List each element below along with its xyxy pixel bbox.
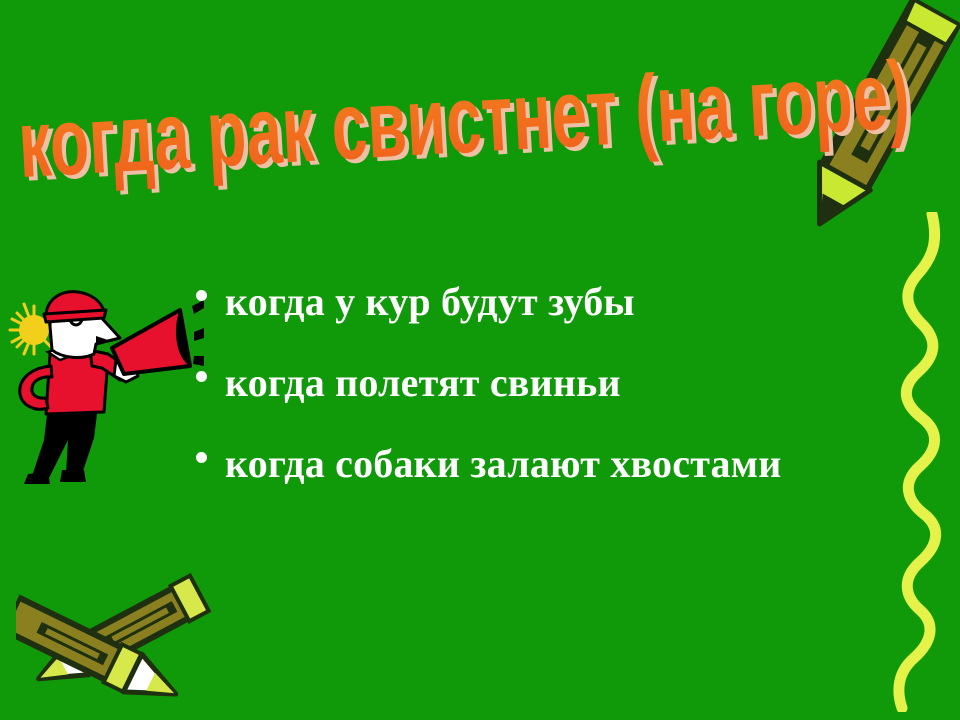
bullet-item-label: когда собаки залают хвостами: [225, 434, 856, 495]
megaphone-man-svg: [4, 288, 204, 488]
bullet-dot-icon: [196, 290, 207, 301]
pencil-top-right-svg: [790, 0, 960, 244]
megaphone-man-icon: [4, 288, 204, 488]
shoe-left-shape: [24, 472, 50, 484]
squiggle-path: [899, 214, 936, 708]
pencils-bottom-left-svg: [16, 560, 246, 720]
squiggle-right-icon: [876, 212, 960, 712]
pencil-top-right-icon: [790, 0, 960, 244]
trousers-shape: [32, 406, 98, 480]
bullet-item-label: когда полетят свиньи: [225, 353, 856, 414]
squiggle-right-svg: [876, 212, 960, 712]
title-main-text: когда рак свистнет (на горе): [16, 41, 913, 198]
title-wordart-svg: когда рак свистнет (на горе) когда рак с…: [18, 52, 918, 182]
title-shadow-text: когда рак свистнет (на горе): [20, 45, 917, 202]
bullet-dot-icon: [196, 452, 207, 463]
slide-canvas: когда рак свистнет (на горе) когда рак с…: [0, 0, 960, 720]
list-item: когда у кур будут зубы: [196, 272, 856, 333]
slide-title: когда рак свистнет (на горе) когда рак с…: [18, 52, 918, 182]
list-item: когда собаки залают хвостами: [196, 434, 856, 495]
sunburst-shape: [10, 304, 51, 354]
bullet-list: когда у кур будут зубы когда полетят сви…: [196, 272, 856, 514]
pencils-bottom-left-icon: [16, 560, 246, 720]
list-item: когда полетят свиньи: [196, 353, 856, 414]
bullet-item-label: когда у кур будут зубы: [225, 272, 856, 333]
bullet-dot-icon: [196, 371, 207, 382]
shoe-right-shape: [60, 470, 86, 482]
